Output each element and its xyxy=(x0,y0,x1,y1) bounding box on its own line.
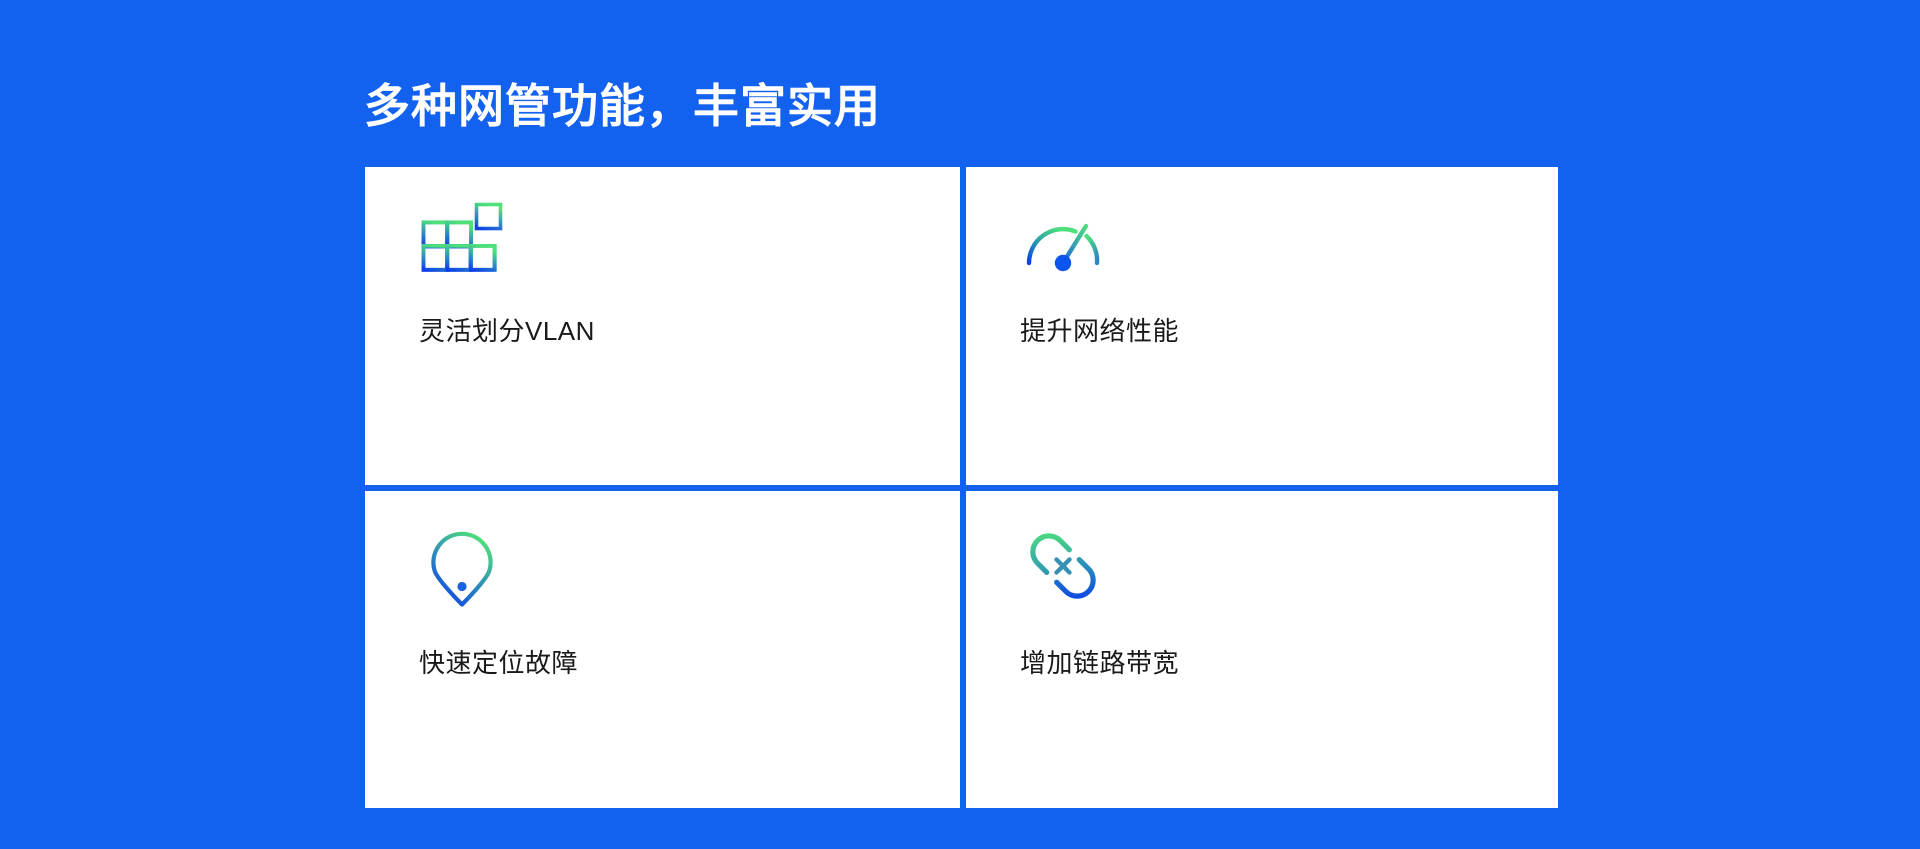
page-title: 多种网管功能，丰富实用 xyxy=(364,75,881,137)
vlan-grid-icon xyxy=(419,200,505,278)
feature-card-label-vlan: 灵活划分VLAN xyxy=(419,314,595,348)
feature-card-label-performance: 提升网络性能 xyxy=(1020,314,1179,348)
broken-chain-link-icon xyxy=(1020,523,1106,609)
feature-card-performance[interactable]: 提升网络性能 xyxy=(963,167,1558,488)
location-pin-alert-icon xyxy=(419,523,505,609)
feature-card-label-link-bandwidth: 增加链路带宽 xyxy=(1020,646,1179,680)
feature-section: 多种网管功能，丰富实用 xyxy=(0,0,1920,849)
feature-card-label-fault-location: 快速定位故障 xyxy=(419,646,578,680)
feature-card-link-bandwidth[interactable]: 增加链路带宽 xyxy=(963,488,1558,809)
feature-card-grid: 灵活划分VLAN xyxy=(365,167,1558,808)
feature-card-fault-location[interactable]: 快速定位故障 xyxy=(365,488,963,809)
feature-card-vlan[interactable]: 灵活划分VLAN xyxy=(365,167,963,488)
speedometer-gauge-icon xyxy=(1020,200,1106,278)
